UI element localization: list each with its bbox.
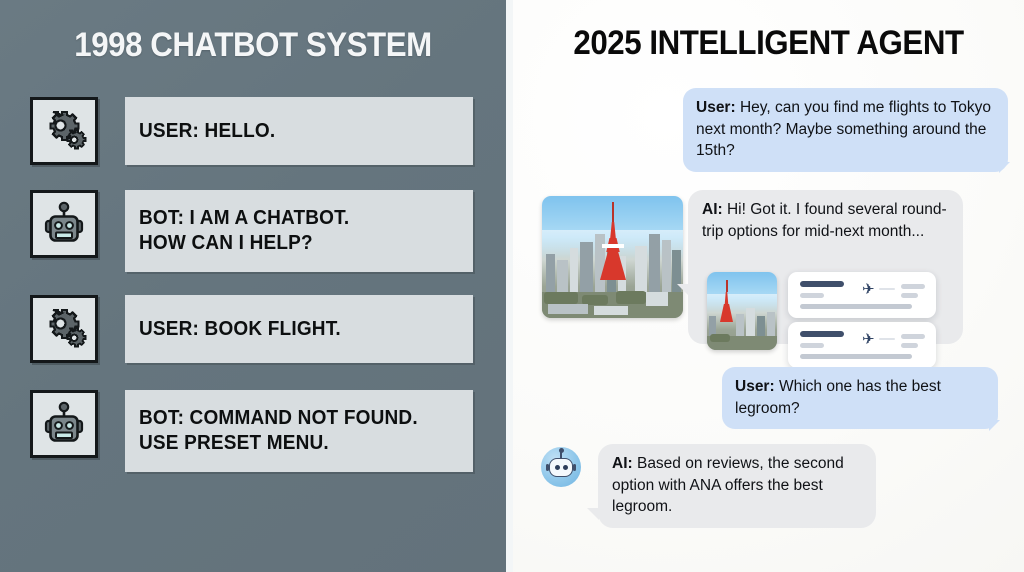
bubble-tail [989,420,1000,431]
sender-label: User: [735,378,775,395]
chat-row-1: USER: HELLO. [30,97,473,165]
tokyo-skyline-thumbnail [707,272,777,350]
left-panel-1998: 1998 CHATBOT SYSTEM USER: HELLO. [0,0,506,572]
robot-icon [30,190,98,258]
robot-icon [30,390,98,458]
airplane-icon: ✈ [862,332,875,347]
message-box: USER: HELLO. [125,97,473,165]
tokyo-tower-photo [542,196,683,318]
chat-row-3: USER: BOOK FLIGHT. [30,295,473,363]
chat-row-4: BOT: COMMAND NOT FOUND. USE PRESET MENU. [30,390,473,472]
airplane-icon: ✈ [862,282,875,297]
flight-option-card[interactable]: ✈ [788,272,936,318]
gears-icon [30,97,98,165]
left-panel-title: 1998 CHATBOT SYSTEM [20,26,486,65]
message-text: Hi! Got it. I found several round-trip o… [702,201,947,240]
right-panel-title: 2025 INTELLIGENT AGENT [533,24,1003,63]
panel-divider [506,0,513,572]
sender-label: AI: [612,455,633,472]
message-text: Hey, can you find me flights to Tokyo ne… [696,99,991,159]
chat-bubble-user-1: User: Hey, can you find me flights to To… [683,88,1008,172]
comparison-infographic: 1998 CHATBOT SYSTEM USER: HELLO. [0,0,1024,572]
message-text: USER: BOOK FLIGHT. [139,317,341,342]
bubble-tail [587,508,599,520]
message-text: Based on reviews, the second option with… [612,455,844,515]
chat-bubble-ai-2: AI: Based on reviews, the second option … [598,444,876,528]
bubble-tail [677,284,689,296]
message-box: USER: BOOK FLIGHT. [125,295,473,363]
message-box: BOT: I AM A CHATBOT. HOW CAN I HELP? [125,190,473,272]
message-text: BOT: COMMAND NOT FOUND. USE PRESET MENU. [139,406,418,456]
sender-label: AI: [702,201,723,218]
right-panel-2025: 2025 INTELLIGENT AGENT User: Hey, can yo… [513,0,1024,572]
message-box: BOT: COMMAND NOT FOUND. USE PRESET MENU. [125,390,473,472]
gears-icon [30,295,98,363]
chat-bubble-user-2: User: Which one has the best legroom? [722,367,998,429]
sender-label: User: [696,99,736,116]
ai-robot-avatar [541,447,581,487]
chat-row-2: BOT: I AM A CHATBOT. HOW CAN I HELP? [30,190,473,272]
bubble-tail [999,162,1010,173]
message-text: USER: HELLO. [139,119,275,144]
flight-option-card[interactable]: ✈ [788,322,936,368]
message-text: BOT: I AM A CHATBOT. HOW CAN I HELP? [139,206,349,256]
